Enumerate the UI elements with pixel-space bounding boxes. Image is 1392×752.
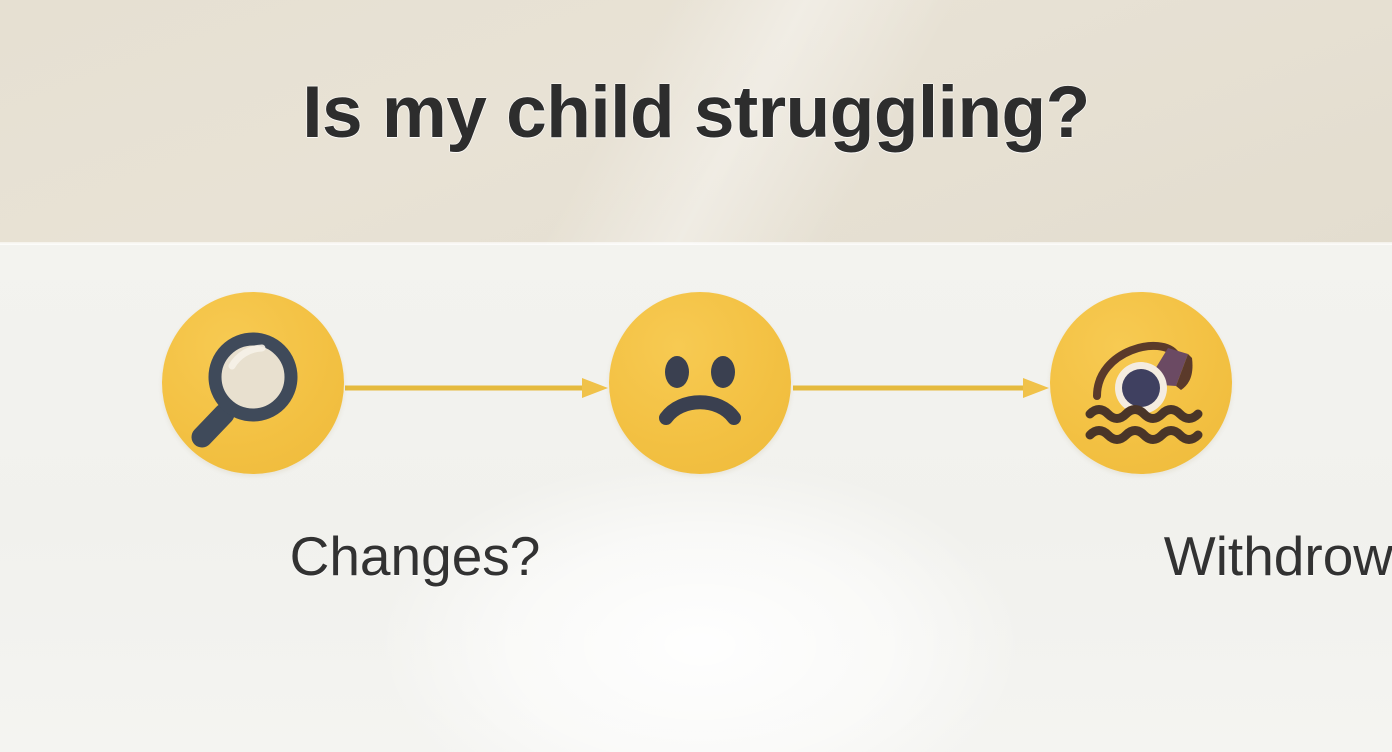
flow-step-changes[interactable]: Changes?: [162, 292, 344, 474]
flow-step-label: Withdrown?: [1099, 529, 1392, 584]
step-icon-circle: [609, 292, 791, 474]
arrow-right-icon: [345, 375, 610, 401]
step-icon-circle: [162, 292, 344, 474]
swimmer-drowning-icon: [1050, 292, 1232, 474]
step-icon-circle: [1050, 292, 1232, 474]
frowning-face-icon: [609, 292, 791, 474]
page-title: Is my child struggling?: [0, 76, 1392, 149]
flow-step-needs-help[interactable]: Needs help?: [1050, 292, 1232, 474]
flow-diagram: Changes? Withdrown?: [0, 245, 1392, 752]
flow-connector-1: [345, 375, 610, 401]
arrow-right-icon: [793, 375, 1051, 401]
infographic-canvas: Is my child struggling?: [0, 0, 1392, 752]
flow-step-withdrawn[interactable]: Withdrown?: [609, 292, 791, 474]
flow-step-label: Changes?: [205, 529, 625, 584]
magnifying-glass-icon: [162, 292, 344, 474]
flow-connector-2: [793, 375, 1051, 401]
